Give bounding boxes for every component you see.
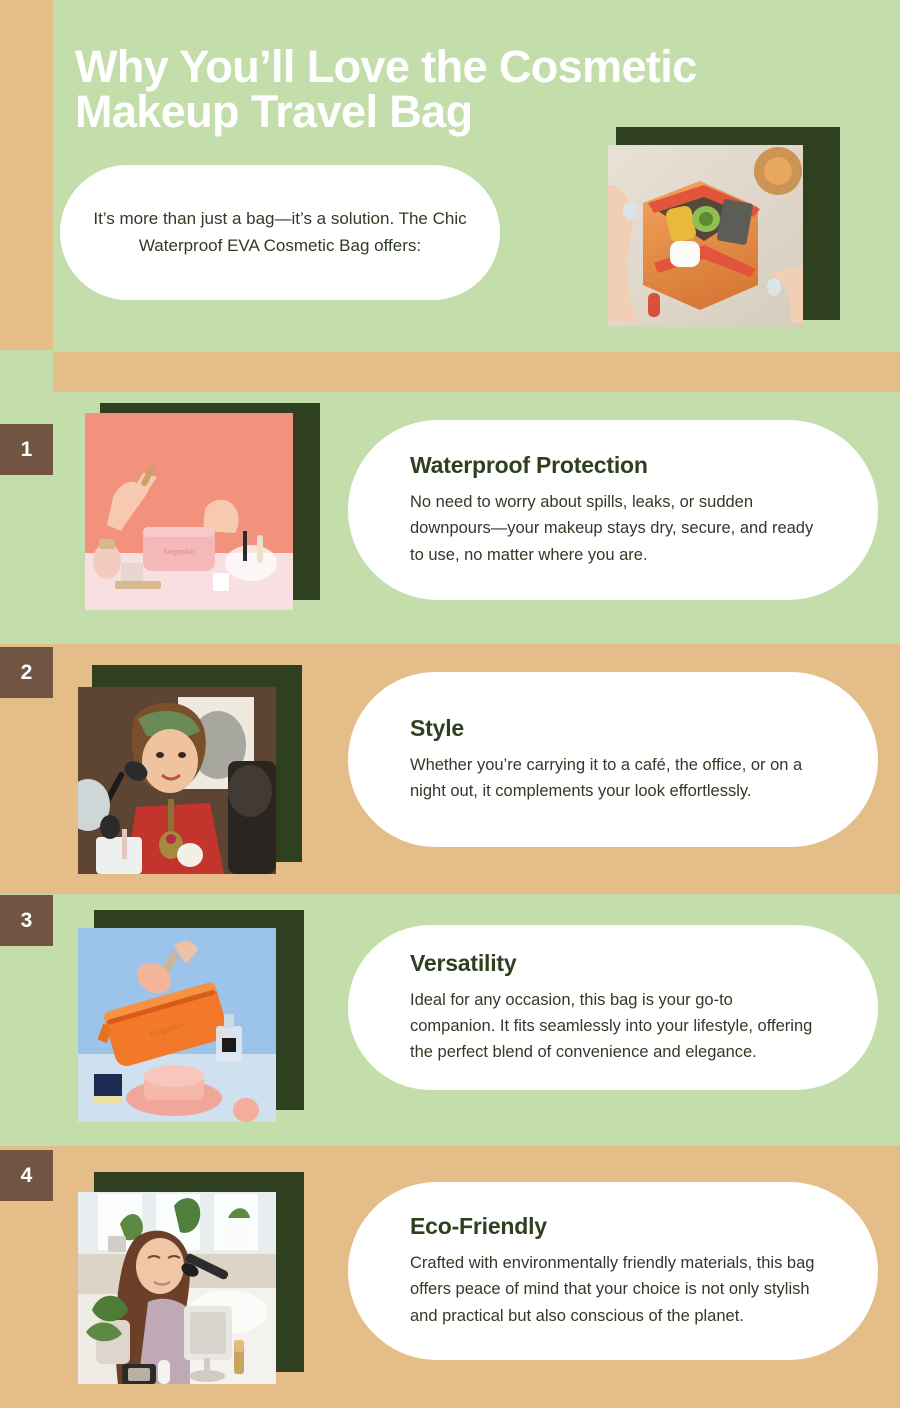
page-title: Why You’ll Love the Cosmetic Makeup Trav… bbox=[75, 44, 835, 134]
section-photo-2 bbox=[78, 687, 276, 874]
header-photo bbox=[608, 145, 803, 327]
section-photo-1: fungoofun bbox=[85, 413, 293, 610]
section-photo-frame-2 bbox=[78, 665, 302, 874]
section-photo-frame-3: fungoofun bbox=[78, 910, 304, 1122]
section-heading-3: Versatility bbox=[410, 950, 816, 977]
header-section: Why You’ll Love the Cosmetic Makeup Trav… bbox=[0, 0, 900, 352]
svg-text:fungoofun: fungoofun bbox=[163, 549, 194, 556]
header-photo-frame bbox=[608, 127, 840, 327]
section-photo-4 bbox=[78, 1192, 276, 1384]
section-body-1: No need to worry about spills, leaks, or… bbox=[410, 489, 816, 567]
section-body-4: Crafted with environmentally friendly ma… bbox=[410, 1250, 816, 1328]
section-card-3: Versatility Ideal for any occasion, this… bbox=[348, 925, 878, 1090]
section-heading-2: Style bbox=[410, 715, 816, 742]
section-number-badge-4: 4 bbox=[0, 1150, 53, 1201]
section-body-3: Ideal for any occasion, this bag is your… bbox=[410, 987, 816, 1065]
section-card-4: Eco-Friendly Crafted with environmentall… bbox=[348, 1182, 878, 1360]
section-number-badge-2: 2 bbox=[0, 647, 53, 698]
section-photo-frame-1: fungoofun bbox=[85, 403, 320, 610]
section-heading-1: Waterproof Protection bbox=[410, 452, 816, 479]
section-heading-4: Eco-Friendly bbox=[410, 1213, 816, 1240]
header-left-strip-inner bbox=[0, 0, 53, 350]
section-photo-frame-4 bbox=[78, 1172, 304, 1384]
header-tan-divider-bar bbox=[53, 352, 900, 392]
section-card-2: Style Whether you’re carrying it to a ca… bbox=[348, 672, 878, 847]
section-photo-3: fungoofun bbox=[78, 928, 276, 1122]
section-number-badge-1: 1 bbox=[0, 424, 53, 475]
section-body-2: Whether you’re carrying it to a café, th… bbox=[410, 752, 816, 804]
intro-bubble: It’s more than just a bag—it’s a solutio… bbox=[60, 165, 500, 300]
section-card-1: Waterproof Protection No need to worry a… bbox=[348, 420, 878, 600]
intro-text: It’s more than just a bag—it’s a solutio… bbox=[88, 206, 473, 259]
section-number-badge-3: 3 bbox=[0, 895, 53, 946]
